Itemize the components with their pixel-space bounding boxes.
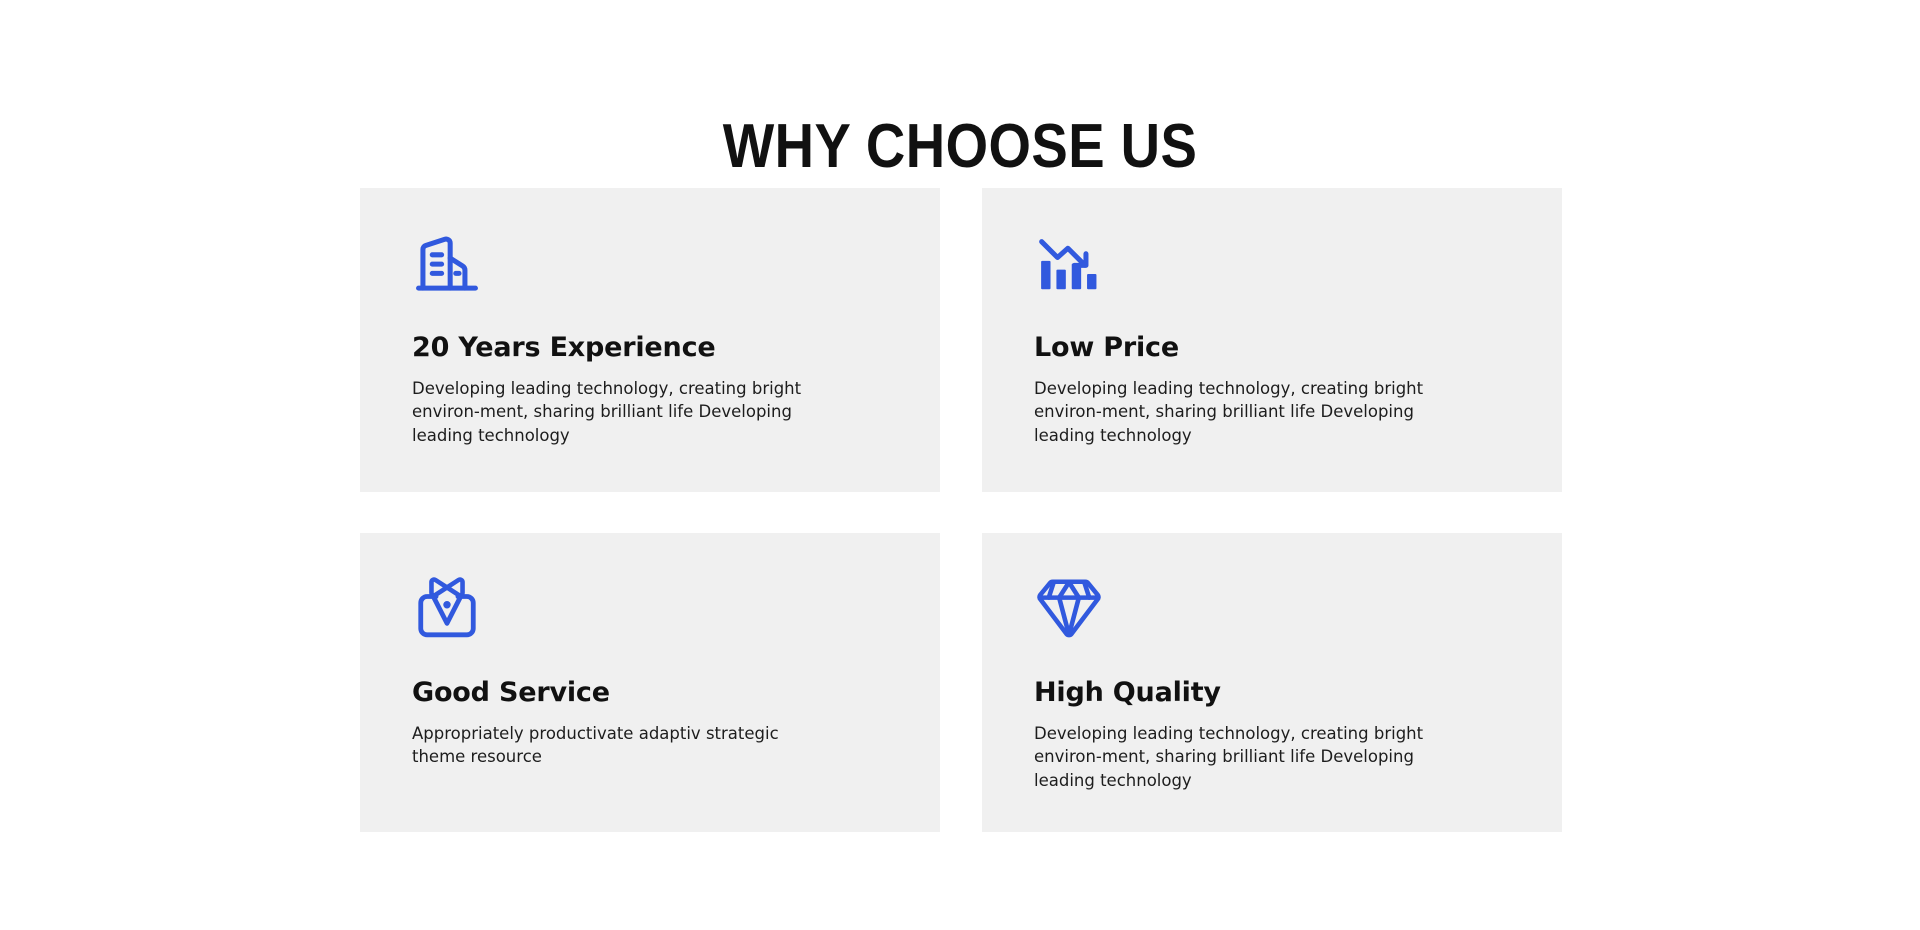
- card-description: Developing leading technology, creating …: [1034, 377, 1454, 447]
- card-title: Good Service: [412, 677, 888, 708]
- card-title: High Quality: [1034, 677, 1510, 708]
- feature-card-low-price[interactable]: Low Price Developing leading technology,…: [982, 188, 1562, 492]
- why-choose-us-section: WHY CHOOSE US 20 Years Experience Develo…: [0, 0, 1920, 930]
- card-title: 20 Years Experience: [412, 332, 888, 363]
- office-building-icon: [412, 228, 482, 298]
- feature-card-high-quality[interactable]: High Quality Developing leading technolo…: [982, 533, 1562, 832]
- feature-cards-grid: 20 Years Experience Developing leading t…: [360, 188, 1562, 832]
- card-title: Low Price: [1034, 332, 1510, 363]
- feature-card-experience[interactable]: 20 Years Experience Developing leading t…: [360, 188, 940, 492]
- tuxedo-bowtie-icon: [412, 573, 482, 643]
- page-title: WHY CHOOSE US: [115, 114, 1805, 179]
- feature-card-good-service[interactable]: Good Service Appropriately productivate …: [360, 533, 940, 832]
- card-description: Developing leading technology, creating …: [1034, 722, 1454, 792]
- declining-bar-chart-icon: [1034, 228, 1104, 298]
- card-description: Developing leading technology, creating …: [412, 377, 832, 447]
- diamond-gem-icon: [1034, 573, 1104, 643]
- card-description: Appropriately productivate adaptiv strat…: [412, 722, 832, 769]
